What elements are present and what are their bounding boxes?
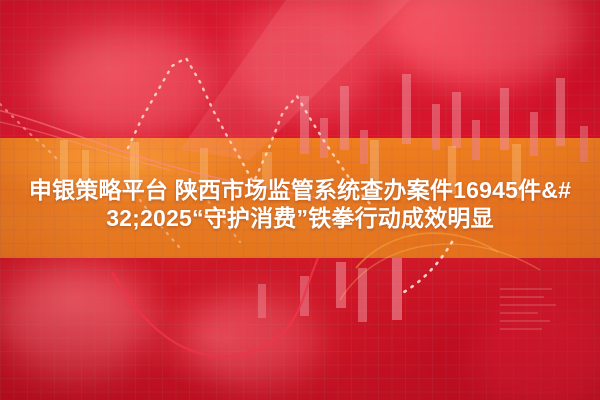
headline-line-1: 申银策略平台 陕西市场监管系统查办案件16945件&# [29, 177, 571, 203]
banner-headline: 申银策略平台 陕西市场监管系统查办案件16945件&# 32;2025“守护消费… [0, 176, 600, 232]
headline-line-2: 32;2025“守护消费”铁拳行动成效明显 [0, 204, 600, 232]
banner-image: 申银策略平台 陕西市场监管系统查办案件16945件&# 32;2025“守护消费… [0, 0, 600, 400]
candlestick-bars [300, 74, 588, 164]
trend-curve-bottom-u [112, 258, 318, 356]
dotted-arc-lower-right [404, 242, 452, 292]
ticker-marks-right [500, 288, 556, 330]
candlestick-bars-lower [258, 258, 402, 322]
